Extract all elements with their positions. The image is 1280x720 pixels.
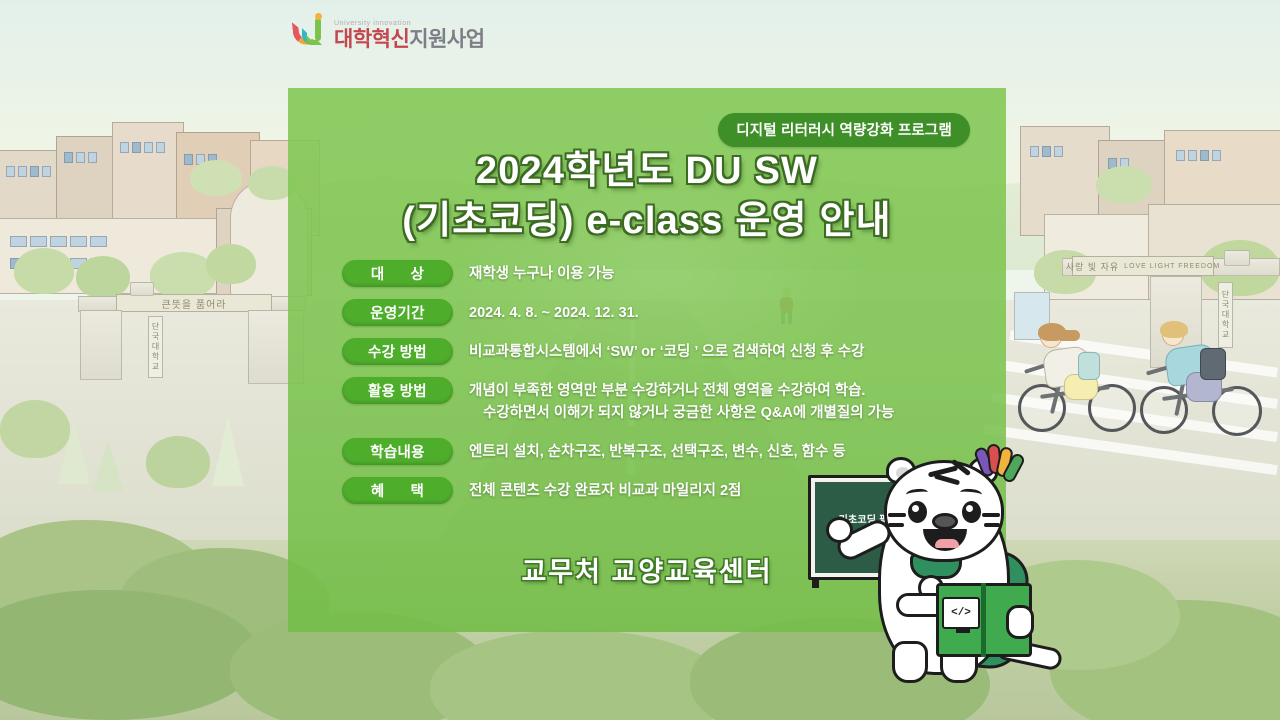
- left-pillar-label: 단국대학교: [148, 316, 163, 378]
- window-row: [120, 142, 165, 153]
- mascot-paw: [1006, 605, 1034, 639]
- right-gate-sign-kr: 사랑 빛 자유: [1066, 260, 1119, 273]
- info-value-target: 재학생 누구나 이용 가능: [453, 260, 980, 285]
- gate-lamp: [1224, 250, 1250, 266]
- tree: [14, 248, 74, 294]
- tree: [206, 244, 256, 284]
- info-row-enrollment-method: 수강 방법 비교과통합시스템에서 ‘SW’ or ‘코딩 ’ 으로 검색하여 신…: [342, 338, 980, 365]
- tree: [190, 160, 242, 196]
- info-value-curriculum: 엔트리 설치, 순차구조, 반복구조, 선택구조, 변수, 신호, 함수 등: [453, 438, 980, 463]
- tree: [146, 436, 210, 488]
- info-label-enrollment-method: 수강 방법: [342, 338, 453, 365]
- info-value-line: 비교과통합시스템에서 ‘SW’ or ‘코딩 ’ 으로 검색하여 신청 후 수강: [469, 341, 980, 363]
- info-label-benefit: 혜 택: [342, 477, 453, 504]
- title-line-1: 2024학년도 DU SW: [288, 146, 1006, 196]
- mascot-cheek-stripe: [984, 523, 1000, 527]
- info-value-line: 개념이 부족한 영역만 부분 수강하거나 전체 영역을 수강하여 학습.: [469, 380, 980, 402]
- tree: [76, 256, 130, 298]
- tree: [0, 400, 70, 458]
- brand-logo: University innovation 대학혁신지원사업: [293, 16, 485, 50]
- page-title: 2024학년도 DU SW (기초코딩) e-class 운영 안내: [288, 146, 1006, 246]
- conifer-tree: [92, 440, 124, 492]
- info-label-curriculum: 학습내용: [342, 438, 453, 465]
- cyclist-right: [1140, 322, 1280, 444]
- conifer-tree: [212, 416, 244, 486]
- info-row-period: 운영기간 2024. 4. 8. ~ 2024. 12. 31.: [342, 299, 980, 326]
- organization-footer: 교무처 교양교육센터: [288, 550, 1006, 589]
- window-row: [1176, 150, 1221, 161]
- brand-name-part1: 대학혁신: [334, 28, 409, 51]
- window-row: [6, 166, 51, 177]
- program-badge: 디지털 리터러시 역량강화 프로그램: [718, 113, 970, 147]
- brand-logo-text: University innovation 대학혁신지원사업: [334, 20, 485, 50]
- window-row: [1030, 146, 1063, 157]
- info-value-line: 2024. 4. 8. ~ 2024. 12. 31.: [469, 302, 980, 324]
- right-gate-sign-en: LOVE LIGHT FREEDOM: [1124, 263, 1220, 270]
- mascot-paw: [826, 517, 853, 543]
- info-row-benefit: 혜 택 전체 콘텐츠 수강 완료자 비교과 마일리지 2점: [342, 477, 980, 504]
- window-row: [64, 152, 97, 163]
- info-table: 대 상 재학생 누구나 이용 가능 운영기간 2024. 4. 8. ~ 202…: [342, 260, 980, 516]
- computer-code-icon: </>: [942, 597, 980, 629]
- info-value-line: 엔트리 설치, 순차구조, 반복구조, 선택구조, 변수, 신호, 함수 등: [469, 441, 980, 463]
- info-label-usage-method: 활용 방법: [342, 377, 453, 404]
- content-panel: 디지털 리터러시 역량강화 프로그램 2024학년도 DU SW (기초코딩) …: [288, 88, 1006, 632]
- rider-ponytail: [1060, 330, 1080, 341]
- info-value-line: 재학생 누구나 이용 가능: [469, 263, 980, 285]
- rider-hair: [1160, 321, 1188, 338]
- info-value-line: 전체 콘텐츠 수강 완료자 비교과 마일리지 2점: [469, 480, 980, 502]
- mascot-leg: [892, 641, 928, 683]
- info-label-target: 대 상: [342, 260, 453, 287]
- mascot-cheek-stripe: [888, 523, 904, 527]
- info-value-period: 2024. 4. 8. ~ 2024. 12. 31.: [453, 299, 980, 324]
- university-innovation-logo-icon: [293, 16, 327, 50]
- gate-pillar: [80, 310, 122, 380]
- brand-name-part2: 지원사업: [409, 28, 484, 51]
- info-value-line: 수강하면서 이해가 되지 않거나 궁금한 사항은 Q&A에 개별질의 가능: [469, 402, 980, 424]
- info-value-enrollment-method: 비교과통합시스템에서 ‘SW’ or ‘코딩 ’ 으로 검색하여 신청 후 수강: [453, 338, 980, 363]
- cyclist-left: [1016, 322, 1156, 442]
- info-value-usage-method: 개념이 부족한 영역만 부분 수강하거나 전체 영역을 수강하여 학습. 수강하…: [453, 377, 980, 425]
- rider-backpack: [1078, 352, 1100, 380]
- info-row-usage-method: 활용 방법 개념이 부족한 영역만 부분 수강하거나 전체 영역을 수강하여 학…: [342, 377, 980, 425]
- gate-lamp: [130, 282, 154, 296]
- info-label-period: 운영기간: [342, 299, 453, 326]
- title-line-2: (기초코딩) e-class 운영 안내: [288, 196, 1006, 246]
- poster-canvas: 큰뜻을 품어라 단국대학교 사랑 빛 자유 LOVE LIGHT FREEDOM…: [0, 0, 1280, 720]
- right-gate-sign: 사랑 빛 자유 LOVE LIGHT FREEDOM: [1072, 256, 1214, 276]
- info-row-curriculum: 학습내용 엔트리 설치, 순차구조, 반복구조, 선택구조, 변수, 신호, 함…: [342, 438, 980, 465]
- mascot-hat: [978, 447, 1024, 489]
- window-row: [10, 236, 107, 247]
- info-row-target: 대 상 재학생 누구나 이용 가능: [342, 260, 980, 287]
- info-value-benefit: 전체 콘텐츠 수강 완료자 비교과 마일리지 2점: [453, 477, 980, 502]
- tree: [1096, 166, 1152, 204]
- mascot-cheek-stripe: [982, 513, 1000, 517]
- rider-backpack: [1200, 348, 1226, 380]
- brand-name: 대학혁신지원사업: [334, 29, 485, 50]
- brand-tagline: University innovation: [334, 20, 485, 27]
